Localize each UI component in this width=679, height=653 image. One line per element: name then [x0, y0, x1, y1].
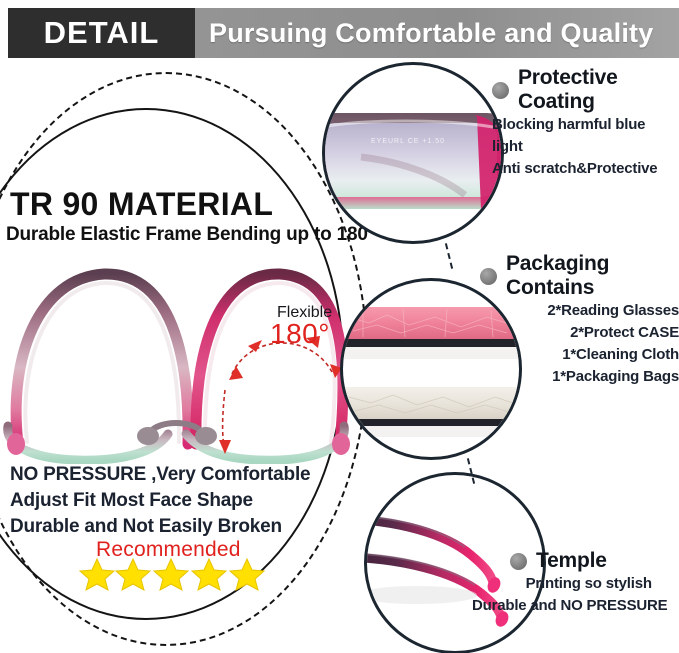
bullet-dot-icon [510, 553, 527, 570]
five-star-rating [78, 556, 268, 592]
flexible-degree-value: 180° [270, 318, 330, 350]
material-title: TR 90 MATERIAL [10, 186, 273, 223]
feature-line: 2*Reading Glasses [480, 300, 679, 322]
star-icon [230, 559, 264, 590]
header-tagline-label: Pursuing Comfortable and Quality [195, 8, 665, 58]
feature-title-row: Protective Coating [492, 66, 679, 114]
material-subtitle: Durable Elastic Frame Bending up to 180° [6, 224, 375, 246]
feature-block-temple: Temple Printing so stylish Durable and N… [510, 549, 667, 617]
feature-title-row: Temple [510, 549, 667, 573]
star-icon [192, 559, 226, 590]
feature-line: Blocking harmful blue light [492, 114, 679, 158]
star-icon [80, 559, 114, 590]
bullet-dot-icon [480, 268, 497, 285]
bullet-dot-icon [492, 82, 509, 99]
feature-line: Durable and NO PRESSURE [472, 595, 667, 617]
feature-line: 1*Cleaning Cloth [480, 344, 679, 366]
reading-glasses-front-image: EYEURL CE +1.50 [325, 65, 501, 241]
benefit-line: NO PRESSURE ,Very Comfortable [10, 462, 340, 488]
benefit-line: Adjust Fit Most Face Shape [10, 488, 340, 514]
feature-block-protective-coating: Protective Coating Blocking harmful blue… [492, 66, 679, 180]
feature-block-packaging-contains: Packaging Contains 2*Reading Glasses 2*P… [480, 252, 679, 388]
connector-circle1-circle2 [445, 243, 453, 269]
feature-line: Printing so stylish [510, 573, 667, 595]
feature-line: 1*Packaging Bags [480, 366, 679, 388]
star-icon [154, 559, 188, 590]
feature-line: Anti scratch&Protective [492, 158, 679, 180]
feature-title: Temple [536, 549, 607, 573]
feature-line: 2*Protect CASE [480, 322, 679, 344]
star-icon [116, 559, 150, 590]
header-badge-label: DETAIL [8, 8, 195, 58]
lens-print-text: EYEURL CE +1.50 [371, 138, 445, 145]
benefits-list: NO PRESSURE ,Very Comfortable Adjust Fit… [10, 462, 340, 540]
bent-glasses-illustration [0, 248, 352, 464]
product-detail-infographic: DETAIL Pursuing Comfortable and Quality … [0, 0, 679, 653]
feature-title-row: Packaging Contains [480, 252, 679, 300]
header-banner: DETAIL Pursuing Comfortable and Quality [0, 8, 679, 58]
feature-title: Protective Coating [518, 66, 679, 114]
benefit-line: Durable and Not Easily Broken [10, 514, 340, 540]
protective-coating-photo-circle: EYEURL CE +1.50 [322, 62, 504, 244]
feature-title: Packaging Contains [506, 252, 679, 300]
